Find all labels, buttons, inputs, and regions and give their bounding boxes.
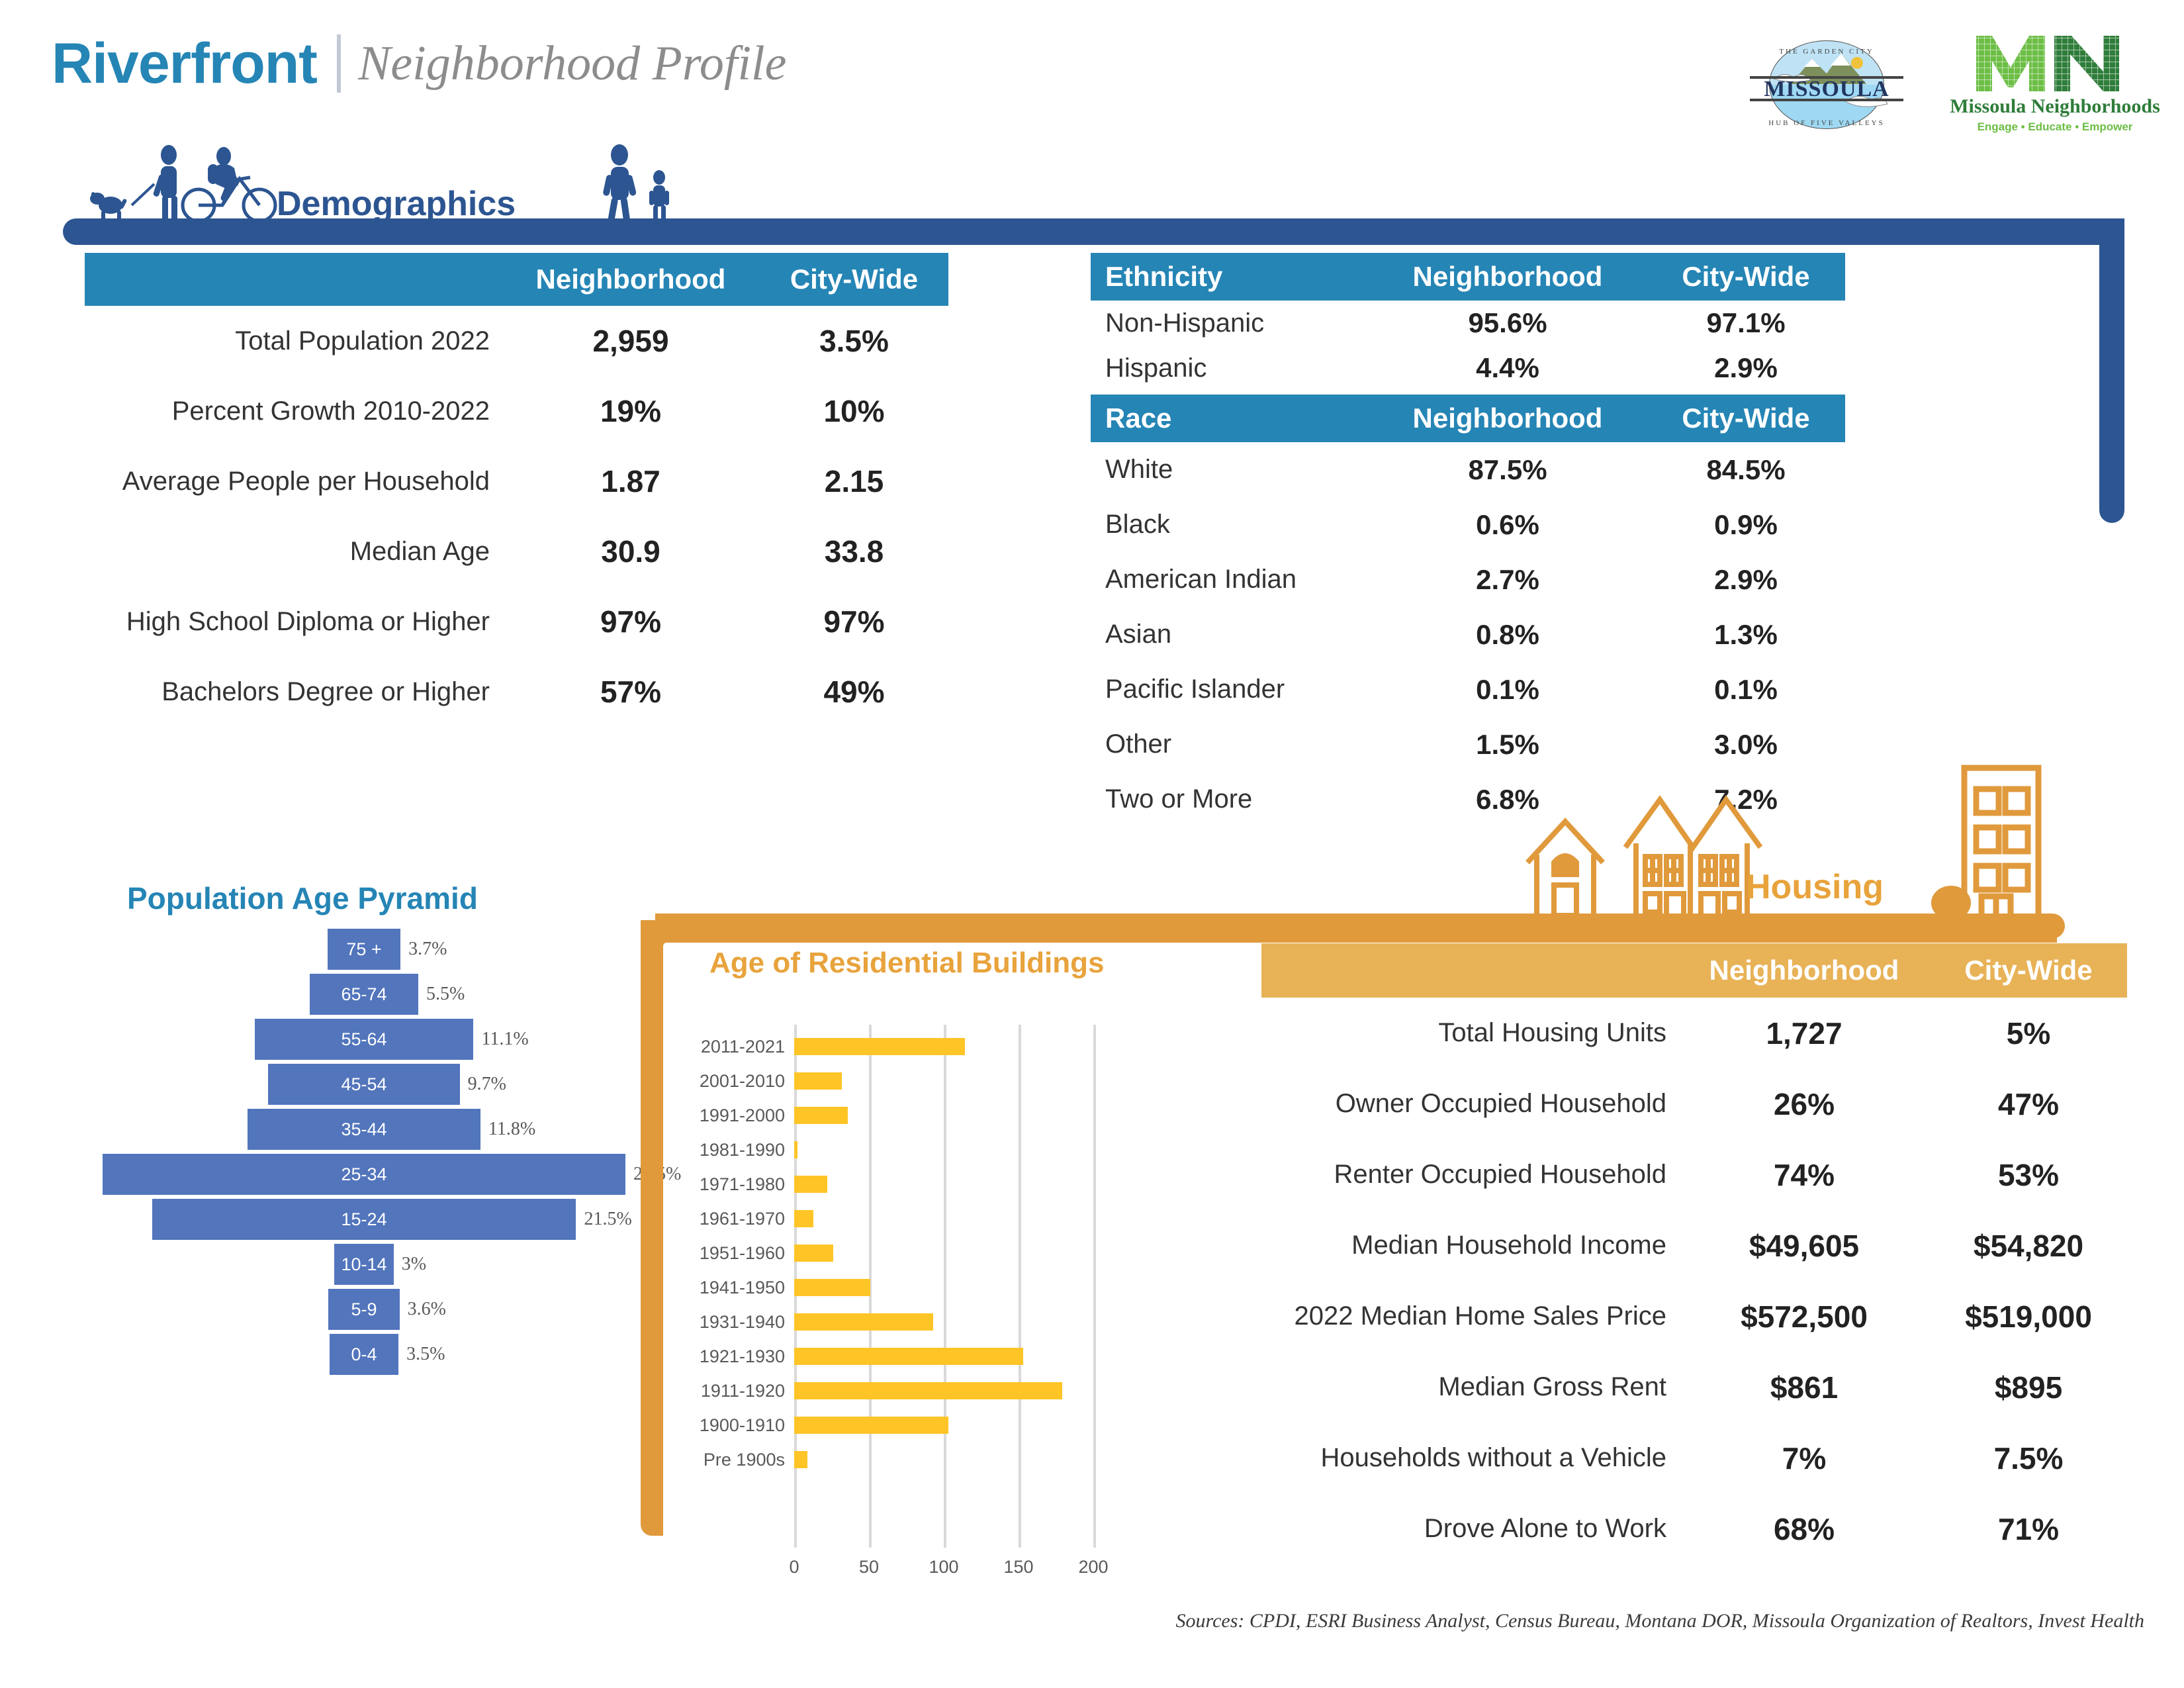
duplex-houses-icon [1621,788,1764,920]
person-cycling-icon [171,144,290,224]
row-citywide-value: 97% [760,604,948,639]
apartment-building-icon [1913,761,2045,927]
pyramid-bar-value: 3.5% [406,1344,445,1365]
row-label: Households without a Vehicle [1261,1444,1678,1472]
row-citywide-value: 5% [1930,1015,2127,1051]
buildings-row: 1951-1960 [682,1236,1205,1270]
row-neighborhood-value: 0.1% [1369,674,1647,706]
row-label: Non-Hispanic [1091,308,1369,338]
axis-tick: 100 [929,1557,958,1577]
pyramid-bar-value: 11.8% [488,1119,535,1140]
table-row: Median Gross Rent $861 $895 [1261,1352,2127,1423]
row-citywide-value: 2.9% [1647,352,1845,384]
pyramid-bar-value: 5.5% [426,984,465,1005]
row-citywide-value: 97.1% [1647,307,1845,339]
pyramid-bar: 25-34 [103,1154,625,1195]
buildings-category-label: 1911-1920 [682,1381,794,1401]
pyramid-row: 65-745.5% [53,972,675,1017]
col-header-neighborhood: Neighborhood [1369,261,1647,293]
row-label: Median Household Income [1261,1231,1678,1260]
table-row: Other 1.5% 3.0% [1091,717,1845,772]
row-citywide-value: 7.5% [1930,1440,2127,1476]
buildings-row: 1931-1940 [682,1305,1205,1339]
buildings-category-label: 1900-1910 [682,1415,794,1436]
col-header-neighborhood: Neighborhood [502,263,760,295]
row-citywide-value: 2.9% [1647,564,1845,596]
row-label: Percent Growth 2010-2022 [85,397,502,426]
table-row: Median Age 30.9 33.8 [85,516,948,586]
pyramid-row: 0-43.5% [53,1332,675,1377]
col-header-citywide: City-Wide [1930,955,2127,986]
pyramid-bar: 15-24 [152,1199,576,1240]
row-neighborhood-value: 0.6% [1369,509,1647,541]
row-label: Bachelors Degree or Higher [85,677,502,707]
buildings-row: Pre 1900s [682,1442,1205,1477]
row-neighborhood-value: 19% [502,393,760,429]
pyramid-bar-label: 0-4 [351,1344,377,1365]
pyramid-row: 35-4411.8% [53,1107,675,1152]
single-house-icon [1522,811,1608,920]
buildings-bar [794,1451,807,1468]
pyramid-bar-label: 75 + [346,939,381,960]
mn-logo-name: Missoula Neighborhoods [1950,95,2160,118]
table-row: Bachelors Degree or Higher 57% 49% [85,657,948,727]
pyramid-bar: 10-14 [334,1244,393,1285]
row-citywide-value: 3.5% [760,323,948,359]
col-header-race: Race [1091,402,1369,434]
row-label: Median Gross Rent [1261,1373,1678,1401]
buildings-category-label: Pre 1900s [682,1450,794,1470]
sources-note: Sources: CPDI, ESRI Business Analyst, Ce… [0,1610,2144,1632]
buildings-bar [794,1279,870,1296]
demographics-frame-right [2099,218,2124,523]
pyramid-row: 5-93.6% [53,1287,675,1332]
pyramid-row: 55-6411.1% [53,1017,675,1062]
row-label: Two or More [1091,784,1369,814]
buildings-bar [794,1107,848,1124]
pyramid-bar: 0-4 [330,1334,398,1375]
col-header-citywide: City-Wide [1647,261,1845,293]
axis-tick: 200 [1078,1557,1108,1577]
row-label: Drove Alone to Work [1261,1515,1678,1543]
buildings-row: 2011-2021 [682,1029,1205,1064]
logo-group: MISSOULA THE GARDEN CITY HUB OF FIVE VAL… [1727,32,2144,138]
row-neighborhood-value: 2.7% [1369,564,1647,596]
row-neighborhood-value: $861 [1678,1370,1930,1405]
age-of-residential-buildings-title: Age of Residential Buildings [709,947,1105,980]
row-label: Median Age [85,537,502,567]
race-header-row: Race Neighborhood City-Wide [1091,395,1845,442]
table-row: Non-Hispanic 95.6% 97.1% [1091,301,1845,346]
population-age-pyramid-title: Population Age Pyramid [127,880,478,916]
pyramid-bar-label: 35-44 [341,1119,387,1140]
buildings-category-label: 1971-1980 [682,1174,794,1195]
pyramid-bar-label: 45-54 [341,1074,387,1095]
row-label: Renter Occupied Household [1261,1160,1678,1189]
pyramid-bar-value: 9.7% [468,1074,506,1095]
page-title: Riverfront [52,35,317,92]
row-neighborhood-value: 1,727 [1678,1015,1930,1051]
table-row: Hispanic 4.4% 2.9% [1091,346,1845,391]
missoula-city-logo: MISSOULA THE GARDEN CITY HUB OF FIVE VAL… [1727,35,1926,134]
row-neighborhood-value: 1.5% [1369,729,1647,761]
row-label: American Indian [1091,565,1369,594]
adult-with-child-walking-icon [589,144,728,224]
table-row: Pacific Islander 0.1% 0.1% [1091,662,1845,717]
col-header-ethnicity: Ethnicity [1091,261,1369,293]
buildings-bar [794,1072,842,1090]
pyramid-row: 25-3426.5% [53,1152,675,1197]
table-header-row: Neighborhood City-Wide [1261,943,2127,998]
row-neighborhood-value: 1.87 [502,463,760,499]
table-row: Black 0.6% 0.9% [1091,497,1845,552]
row-neighborhood-value: $572,500 [1678,1299,1930,1335]
row-label: 2022 Median Home Sales Price [1261,1302,1678,1331]
pyramid-bar: 35-44 [248,1109,480,1150]
pyramid-bar: 55-64 [255,1019,474,1060]
buildings-bar [794,1417,948,1434]
buildings-bar [794,1176,827,1193]
row-neighborhood-value: $49,605 [1678,1228,1930,1264]
pyramid-row: 45-549.7% [53,1062,675,1107]
missoula-logo-text: MISSOULA [1764,77,1889,101]
page-header: Riverfront Neighborhood Profile MISSOULA… [0,0,2184,152]
row-label: Asian [1091,620,1369,649]
col-header-neighborhood: Neighborhood [1678,955,1930,986]
buildings-category-label: 1991-2000 [682,1105,794,1126]
row-citywide-value: 33.8 [760,534,948,569]
table-row: Renter Occupied Household 74% 53% [1261,1139,2127,1210]
housing-banner-bar [655,914,2065,939]
row-label: White [1091,455,1369,485]
buildings-row: 1911-1920 [682,1374,1205,1408]
buildings-row: 1961-1970 [682,1201,1205,1236]
missoula-logo-bottom-text: HUB OF FIVE VALLEYS [1768,119,1884,127]
mn-monogram-icon [1972,32,2138,93]
col-header-citywide: City-Wide [760,263,948,295]
title-divider [337,34,341,93]
pyramid-bar-value: 21.5% [584,1209,631,1230]
buildings-category-label: 1931-1940 [682,1312,794,1333]
table-row: Households without a Vehicle 7% 7.5% [1261,1423,2127,1493]
pyramid-row: 10-143% [53,1242,675,1287]
table-row: Total Housing Units 1,727 5% [1261,998,2127,1068]
table-row: American Indian 2.7% 2.9% [1091,552,1845,607]
table-row: Asian 0.8% 1.3% [1091,607,1845,662]
buildings-row: 1971-1980 [682,1167,1205,1201]
buildings-category-label: 1981-1990 [682,1140,794,1160]
missoula-logo-top-text: THE GARDEN CITY [1779,48,1874,56]
buildings-bar [794,1348,1023,1365]
buildings-category-label: 2011-2021 [682,1037,794,1057]
axis-tick: 0 [789,1557,799,1577]
row-citywide-value: 2.15 [760,463,948,499]
pyramid-bar-label: 10-14 [341,1254,387,1275]
pyramid-bar-label: 15-24 [341,1209,387,1230]
row-citywide-value: $519,000 [1930,1299,2127,1335]
row-citywide-value: 0.1% [1647,674,1845,706]
pyramid-bar-label: 25-34 [341,1164,387,1185]
table-row: Total Population 2022 2,959 3.5% [85,306,948,376]
row-citywide-value: 84.5% [1647,454,1845,486]
axis-tick: 50 [859,1557,879,1577]
table-header-row: Neighborhood City-Wide [85,253,948,306]
mn-logo-tagline: Engage • Educate • Empower [1978,120,2133,134]
buildings-bar [794,1141,797,1158]
buildings-row: 1941-1950 [682,1270,1205,1305]
buildings-row: 1981-1990 [682,1133,1205,1167]
table-row: Drove Alone to Work 68% 71% [1261,1493,2127,1564]
pyramid-bar-value: 3% [402,1254,426,1275]
row-citywide-value: $54,820 [1930,1228,2127,1264]
table-row: White 87.5% 84.5% [1091,442,1845,497]
demographics-table: Neighborhood City-Wide Total Population … [85,253,948,727]
table-row: Median Household Income $49,605 $54,820 [1261,1210,2127,1281]
row-label: Hispanic [1091,353,1369,383]
pyramid-bar-label: 55-64 [341,1029,387,1050]
row-neighborhood-value: 26% [1678,1086,1930,1122]
pyramid-bar-label: 65-74 [341,984,387,1005]
row-label: Other [1091,729,1369,759]
row-label: Total Population 2022 [85,326,502,356]
pyramid-bar-label: 5-9 [351,1299,377,1320]
pyramid-bar-value: 11.1% [481,1029,528,1050]
buildings-row: 2001-2010 [682,1064,1205,1098]
row-neighborhood-value: 68% [1678,1511,1930,1547]
buildings-bar [794,1313,933,1331]
row-citywide-value: 1.3% [1647,619,1845,651]
row-neighborhood-value: 95.6% [1369,307,1647,339]
page-subtitle: Neighborhood Profile [358,39,787,88]
table-row: High School Diploma or Higher 97% 97% [85,586,948,657]
buildings-row: 1991-2000 [682,1098,1205,1133]
pyramid-bar: 5-9 [328,1289,399,1330]
row-neighborhood-value: 7% [1678,1440,1930,1476]
buildings-bar [794,1210,813,1227]
row-citywide-value: 10% [760,393,948,429]
pyramid-bar-value: 3.6% [408,1299,446,1320]
row-neighborhood-value: 2,959 [502,323,760,359]
row-neighborhood-value: 30.9 [502,534,760,569]
buildings-category-label: 1951-1960 [682,1243,794,1264]
axis-tick: 150 [1003,1557,1033,1577]
table-row: Percent Growth 2010-2022 19% 10% [85,376,948,446]
row-label: Total Housing Units [1261,1019,1678,1047]
age-of-residential-buildings-chart: 2011-2021 2001-2010 1991-2000 1981-1990 … [682,1029,1205,1532]
housing-frame-left [641,920,663,1536]
row-neighborhood-value: 97% [502,604,760,639]
buildings-bar [794,1038,965,1055]
housing-table: Neighborhood City-Wide Total Housing Uni… [1261,943,2127,1564]
housing-section-label: Housing [1746,867,1884,907]
buildings-chart-x-axis: 0 50 100 150 200 [794,1557,1165,1583]
row-label: Black [1091,510,1369,539]
row-neighborhood-value: 0.8% [1369,619,1647,651]
row-citywide-value: 53% [1930,1157,2127,1193]
pyramid-bar-value: 3.7% [408,939,447,960]
ethnicity-header-row: Ethnicity Neighborhood City-Wide [1091,253,1845,301]
row-citywide-value: $895 [1930,1370,2127,1405]
buildings-row: 1921-1930 [682,1339,1205,1374]
col-header-neighborhood: Neighborhood [1369,402,1647,434]
missoula-neighborhoods-logo: Missoula Neighborhoods Engage • Educate … [1966,32,2144,138]
ethnicity-race-tables: Ethnicity Neighborhood City-Wide Non-His… [1091,253,1845,827]
row-neighborhood-value: 74% [1678,1157,1930,1193]
buildings-row: 1900-1910 [682,1408,1205,1442]
pyramid-row: 15-2421.5% [53,1197,675,1242]
buildings-bar [794,1244,833,1262]
demographics-section-label: Demographics [277,184,516,224]
row-label: High School Diploma or Higher [85,607,502,637]
row-label: Average People per Household [85,467,502,496]
row-citywide-value: 47% [1930,1086,2127,1122]
row-citywide-value: 49% [760,674,948,710]
pyramid-row: 75 +3.7% [53,927,675,972]
population-age-pyramid-chart: 75 +3.7% 65-745.5% 55-6411.1% 45-549.7% … [53,927,675,1503]
row-label: Owner Occupied Household [1261,1090,1678,1118]
pyramid-bar: 75 + [328,929,400,970]
row-label: Pacific Islander [1091,675,1369,704]
table-row: Average People per Household 1.87 2.15 [85,446,948,516]
table-row: Owner Occupied Household 26% 47% [1261,1068,2127,1139]
row-neighborhood-value: 87.5% [1369,454,1647,486]
pyramid-bar: 45-54 [268,1064,459,1105]
buildings-category-label: 1961-1970 [682,1209,794,1229]
buildings-bar [794,1382,1062,1399]
buildings-category-label: 1921-1930 [682,1346,794,1367]
col-header-citywide: City-Wide [1647,402,1845,434]
pyramid-bar: 65-74 [310,974,418,1015]
buildings-category-label: 2001-2010 [682,1071,794,1092]
row-citywide-value: 0.9% [1647,509,1845,541]
title-block: Riverfront Neighborhood Profile [52,34,786,93]
row-citywide-value: 71% [1930,1511,2127,1547]
row-citywide-value: 3.0% [1647,729,1845,761]
table-row: 2022 Median Home Sales Price $572,500 $5… [1261,1281,2127,1352]
row-neighborhood-value: 57% [502,674,760,710]
buildings-category-label: 1941-1950 [682,1278,794,1298]
row-neighborhood-value: 4.4% [1369,352,1647,384]
